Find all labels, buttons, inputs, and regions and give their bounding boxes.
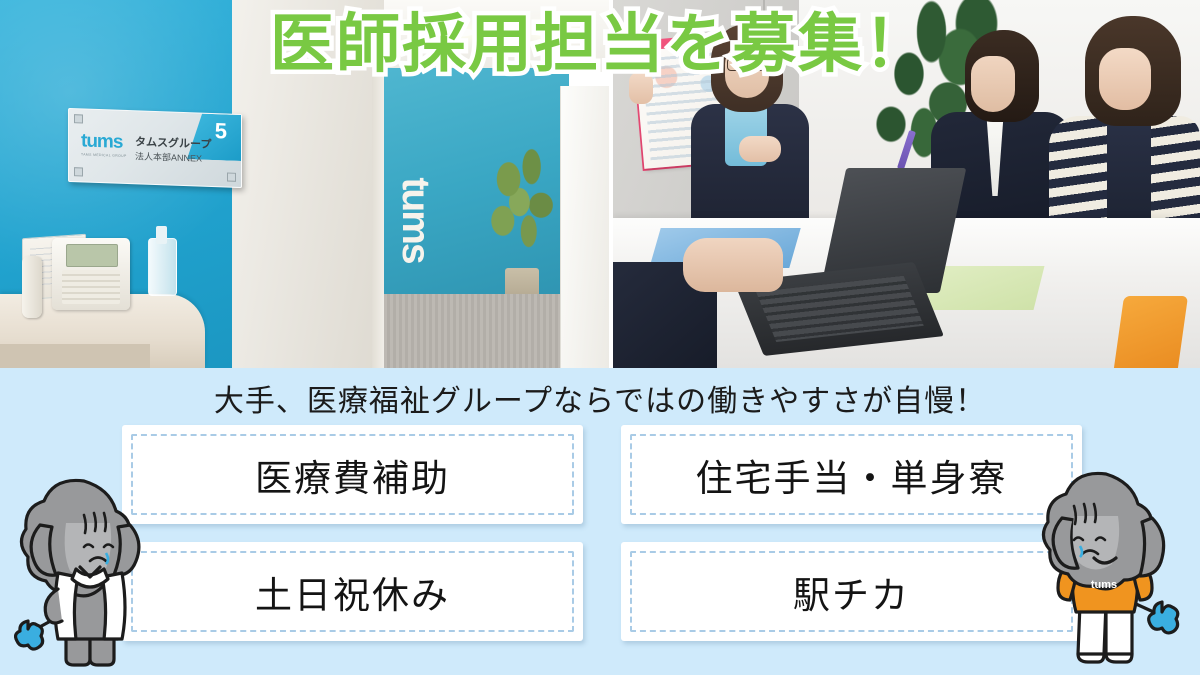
- orange-bag: [1114, 296, 1188, 368]
- benefit-card-near-station[interactable]: 駅チカ: [621, 542, 1082, 641]
- hand-sanitizer-bottle: [148, 238, 177, 296]
- benefit-card-medical-subsidy[interactable]: 医療費補助: [122, 425, 583, 524]
- phone-keypad: [62, 270, 120, 304]
- subtitle: 大手、医療福祉グループならではの働きやすさが自慢！: [0, 376, 1200, 420]
- plaque-screw-icon: [227, 173, 236, 182]
- plaque-tums-logo: tums: [81, 131, 122, 151]
- poodle-doctor-svg: [14, 469, 154, 669]
- presenter-right-hand: [739, 136, 781, 162]
- plaque-logo-subtext: TAMS MEDICAL GROUP: [81, 152, 127, 158]
- phone-screen: [66, 244, 118, 267]
- hallway-plant: [487, 148, 559, 300]
- plaque-floor-number: 5: [215, 118, 227, 144]
- benefit-card-grid: 医療費補助 住宅手当・単身寮 土日祝休み 駅チカ: [122, 425, 1082, 641]
- poodle-doctor-mascot: [14, 469, 154, 669]
- laptop-keyboard: [756, 276, 924, 342]
- benefit-label: 駅チカ: [793, 565, 910, 619]
- benefit-label: 土日祝休み: [255, 565, 450, 619]
- wall-tums-logo: tums: [355, 197, 475, 243]
- plaque-screw-icon: [74, 114, 83, 123]
- recruitment-banner: tums 5 tums TAMS MEDICAL GROUP タムスグループ 法…: [0, 0, 1200, 675]
- plaque-division-name: 法人本部ANNEX: [135, 149, 202, 164]
- phone-handset: [22, 256, 42, 318]
- benefits-section: 大手、医療福祉グループならではの働きやすさが自慢！ 医療費補助 住宅手当・単身寮…: [0, 368, 1200, 675]
- poodle-staff-mascot: tums: [1040, 464, 1190, 669]
- plaque-screw-icon: [74, 167, 83, 176]
- hallway-cabinet: [560, 86, 609, 368]
- page-title: 医師採用担当を募集！: [0, 6, 1200, 83]
- benefit-card-housing-allowance[interactable]: 住宅手当・単身寮: [621, 425, 1082, 524]
- benefit-label: 医療費補助: [255, 448, 450, 502]
- typing-hands: [683, 238, 783, 292]
- benefit-card-weekend-holidays[interactable]: 土日祝休み: [122, 542, 583, 641]
- plant-foliage: [487, 148, 559, 252]
- company-plaque: 5 tums TAMS MEDICAL GROUP タムスグループ 法人本部AN…: [68, 108, 242, 188]
- desk-phone: [52, 238, 130, 310]
- poodle-staff-svg: tums: [1040, 464, 1190, 669]
- mascot-shirt-logo: tums: [1091, 579, 1117, 591]
- sanitizer-pump: [156, 226, 167, 244]
- benefit-label: 住宅手当・単身寮: [696, 448, 1008, 502]
- counter-skirt: [0, 344, 150, 368]
